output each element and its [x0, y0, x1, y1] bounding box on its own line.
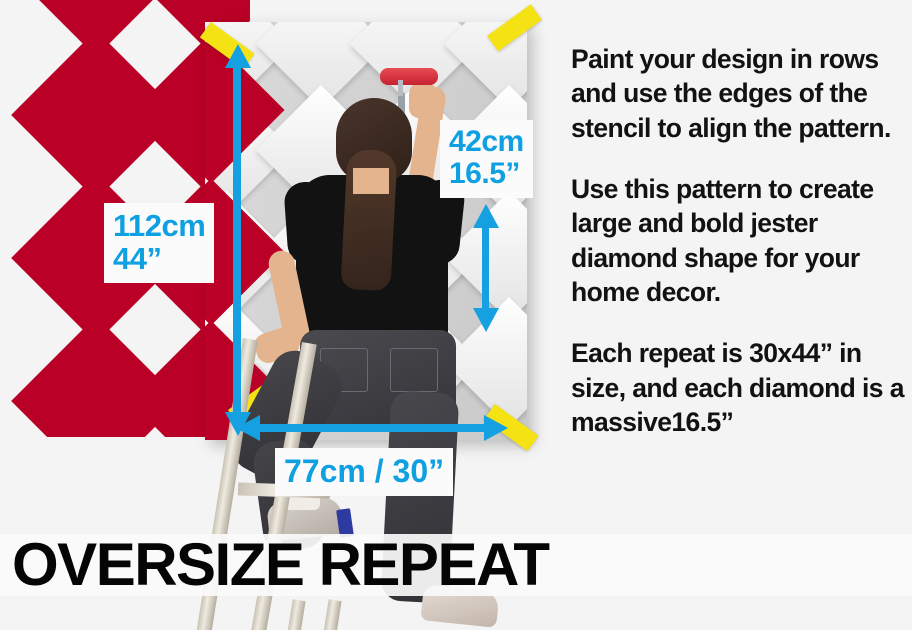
arrow-shaft-vertical: [482, 222, 489, 314]
instruction-copy-column: Paint your design in rows and use the ed…: [571, 42, 907, 439]
paint-roller-head: [380, 68, 438, 85]
banner-headline: OVERSIZE REPEAT: [12, 534, 612, 596]
diamond-dimension-label: 42cm 16.5”: [440, 120, 533, 198]
jeans-pocket-right: [390, 348, 438, 392]
arrow-head-right: [484, 415, 508, 441]
ladder-foot-left: [287, 599, 305, 630]
tshirt-sleeve-left: [283, 181, 331, 266]
arrow-shaft-horizontal: [254, 424, 492, 432]
hand: [409, 82, 437, 118]
diamond-shape: [11, 0, 181, 57]
width-dimension-label: 77cm / 30”: [275, 448, 453, 496]
painted-diamond-through-stencil: [205, 178, 285, 325]
arrow-shaft-vertical: [233, 62, 241, 424]
arrow-head-down: [473, 308, 499, 332]
ladder-foot-right: [323, 599, 341, 630]
paint-roller-frame: [398, 80, 403, 96]
instruction-paragraph-2: Use this pattern to create large and bol…: [571, 172, 907, 309]
instruction-paragraph-1: Paint your design in rows and use the ed…: [571, 42, 907, 145]
neck: [353, 168, 389, 194]
height-dimension-label: 112cm 44”: [104, 203, 214, 283]
instruction-paragraph-3: Each repeat is 30x44” in size, and each …: [571, 336, 907, 439]
infographic-canvas: 112cm 44” 42cm 16.5” 77cm / 30” Paint yo…: [0, 0, 912, 630]
